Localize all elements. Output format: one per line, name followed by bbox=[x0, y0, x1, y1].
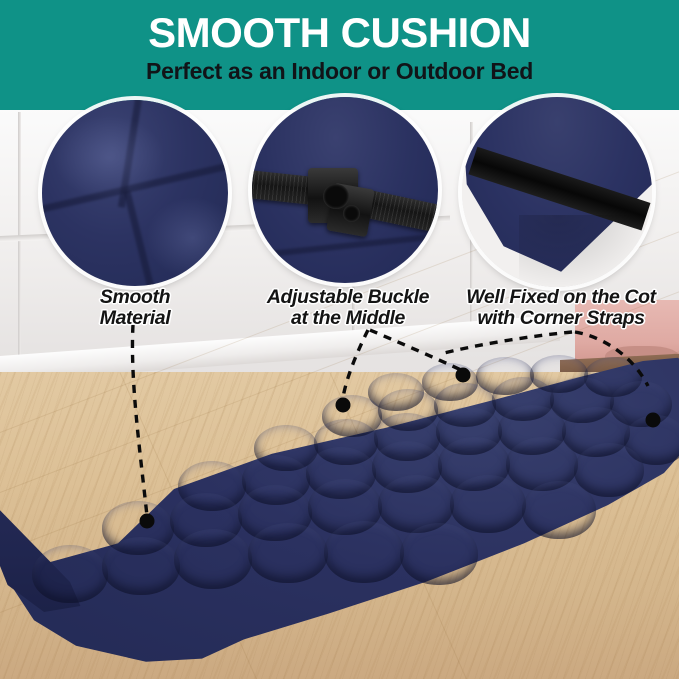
cushion-mattress bbox=[0, 345, 679, 665]
callout-label-line1: Well Fixed on the Cot bbox=[466, 286, 656, 308]
marker-dot bbox=[140, 514, 155, 529]
callout-label-line1: Smooth bbox=[100, 286, 170, 308]
callout-label-line2: with Corner Straps bbox=[477, 307, 644, 329]
corner-shadow bbox=[519, 215, 652, 287]
header-banner: SMOOTH CUSHION Perfect as an Indoor or O… bbox=[0, 0, 679, 110]
marker-dot bbox=[646, 413, 661, 428]
callout-image-adjustable-buckle bbox=[252, 97, 438, 283]
callout-label-line2: at the Middle bbox=[291, 307, 405, 329]
callout-image-smooth-material bbox=[42, 100, 228, 286]
product-infographic: SMOOTH CUSHION Perfect as an Indoor or O… bbox=[0, 0, 679, 679]
marker-dot bbox=[336, 398, 351, 413]
buckle-hole bbox=[323, 184, 349, 208]
callout-image-corner-straps bbox=[462, 97, 652, 287]
page-subtitle: Perfect as an Indoor or Outdoor Bed bbox=[0, 58, 679, 84]
callout-label-line2: Material bbox=[100, 307, 171, 329]
callout-label-adjustable-buckle: Adjustable Buckle at the Middle bbox=[238, 287, 458, 329]
mattress-tufting bbox=[0, 345, 679, 665]
marker-dot bbox=[456, 368, 471, 383]
page-title: SMOOTH CUSHION bbox=[0, 11, 679, 55]
callout-label-line1: Adjustable Buckle bbox=[267, 286, 429, 308]
callout-label-corner-straps: Well Fixed on the Cot with Corner Straps bbox=[448, 287, 674, 329]
callout-label-smooth-material: Smooth Material bbox=[55, 287, 215, 329]
buckle-hole bbox=[343, 205, 360, 222]
